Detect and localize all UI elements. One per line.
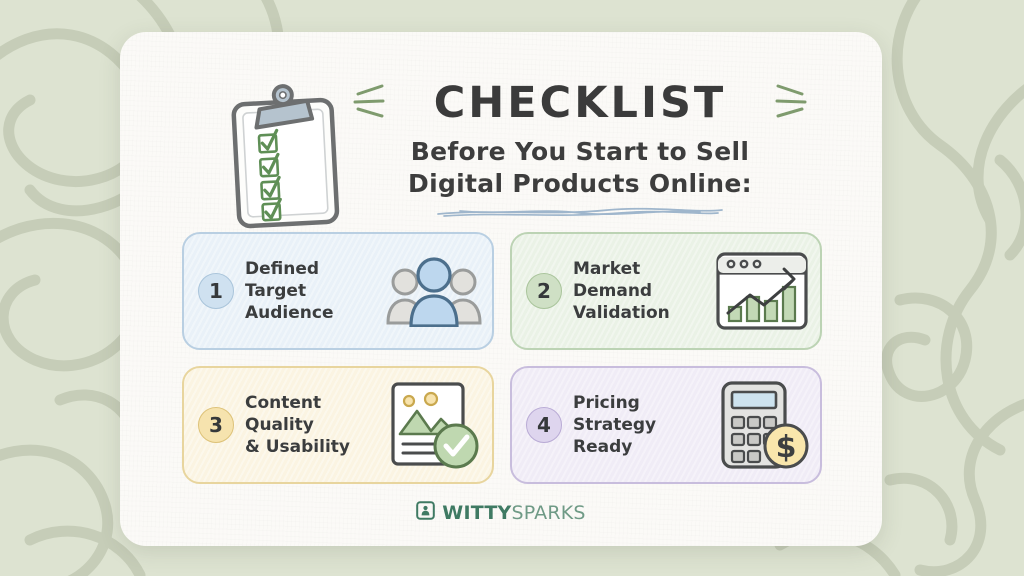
label-line-1: Content Quality xyxy=(245,392,386,436)
sparkle-lines-left-icon xyxy=(352,80,386,128)
footer: WITTYSPARKS xyxy=(120,501,882,524)
document-image-check-icon xyxy=(386,379,482,471)
label-line-1: Pricing Strategy xyxy=(573,392,714,436)
wittysparks-mark-icon xyxy=(416,501,435,524)
step-number-badge: 2 xyxy=(526,273,562,309)
main-panel: CHECKLIST Before You Start to Sell Digit… xyxy=(120,32,882,546)
checklist-grid: 1 Defined Target Audience xyxy=(182,232,822,484)
label-line-2: Validation xyxy=(573,302,714,324)
brand-name-light: SPARKS xyxy=(511,502,585,524)
subtitle-line-1: Before You Start to Sell xyxy=(360,136,800,168)
calculator-dollar-icon: $ xyxy=(714,378,810,472)
header: CHECKLIST Before You Start to Sell Digit… xyxy=(120,60,882,230)
subtitle-line-2: Digital Products Online: xyxy=(360,168,800,200)
checklist-item-label: Defined Target Audience xyxy=(245,258,386,324)
checklist-item-3[interactable]: 3 Content Quality & Usability xyxy=(182,366,494,484)
page-title: CHECKLIST xyxy=(434,78,727,128)
brand-logo: WITTYSPARKS xyxy=(442,502,585,524)
label-line-2: Ready xyxy=(573,436,714,458)
checklist-item-2[interactable]: 2 Market Demand Validation xyxy=(510,232,822,350)
sparkle-lines-right-icon xyxy=(774,80,808,128)
brand-name-bold: WITTY xyxy=(442,502,511,524)
checklist-item-4[interactable]: 4 Pricing Strategy Ready xyxy=(510,366,822,484)
checklist-item-label: Market Demand Validation xyxy=(573,258,714,324)
step-number-badge: 4 xyxy=(526,407,562,443)
label-line-1: Market Demand xyxy=(573,258,714,302)
browser-growth-chart-icon xyxy=(714,249,810,333)
step-number-badge: 1 xyxy=(198,273,234,309)
label-line-1: Defined Target xyxy=(245,258,386,302)
sketch-underline-icon xyxy=(360,204,800,220)
clipboard-icon xyxy=(224,82,348,234)
title-block: CHECKLIST Before You Start to Sell Digit… xyxy=(360,76,800,220)
svg-text:$: $ xyxy=(776,430,797,465)
label-line-2: Audience xyxy=(245,302,386,324)
step-number-badge: 3 xyxy=(198,407,234,443)
checklist-item-1[interactable]: 1 Defined Target Audience xyxy=(182,232,494,350)
label-line-2: & Usability xyxy=(245,436,386,458)
checklist-item-label: Content Quality & Usability xyxy=(245,392,386,458)
people-group-icon xyxy=(386,255,482,327)
checklist-item-label: Pricing Strategy Ready xyxy=(573,392,714,458)
